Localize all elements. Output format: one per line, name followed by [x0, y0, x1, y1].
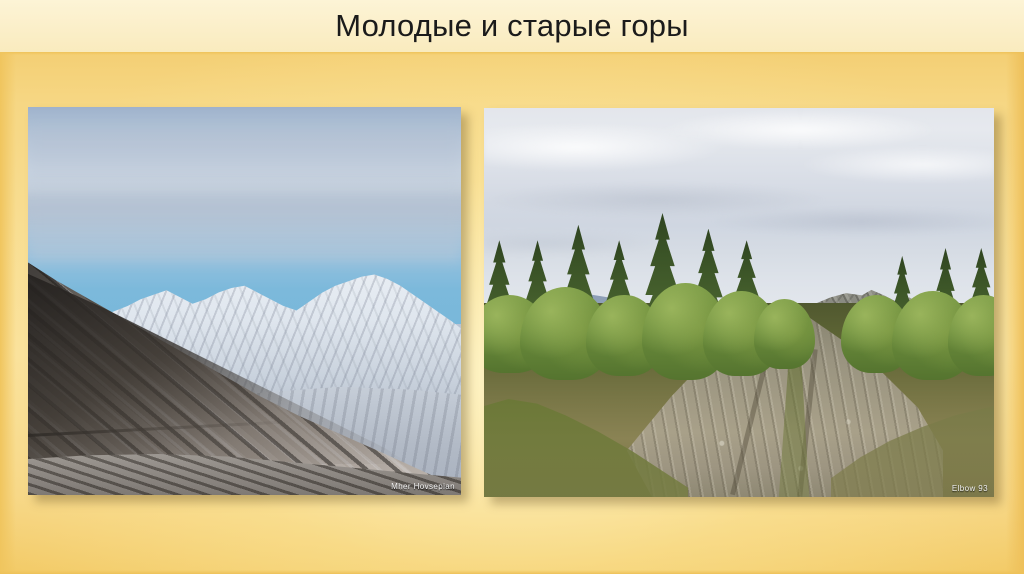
- body-left-edge: [0, 52, 16, 574]
- young-sky-haze-band: [28, 192, 461, 246]
- photo-watermark-young: Mher Hovsepian: [391, 482, 455, 491]
- body-top-edge: [0, 52, 1024, 55]
- page-title: Молодые и старые горы: [0, 4, 1024, 48]
- photo-young-mountains-content: [28, 107, 461, 495]
- photo-old-mountains[interactable]: Elbow 93: [484, 108, 994, 497]
- body-bottom-edge: [0, 570, 1024, 574]
- slide: Молодые и старые горы Mher Hovsepian: [0, 0, 1024, 574]
- photo-watermark-old: Elbow 93: [952, 484, 988, 493]
- body-right-edge: [1006, 52, 1024, 574]
- photo-old-mountains-content: [484, 108, 994, 497]
- photo-young-mountains[interactable]: Mher Hovsepian: [28, 107, 461, 495]
